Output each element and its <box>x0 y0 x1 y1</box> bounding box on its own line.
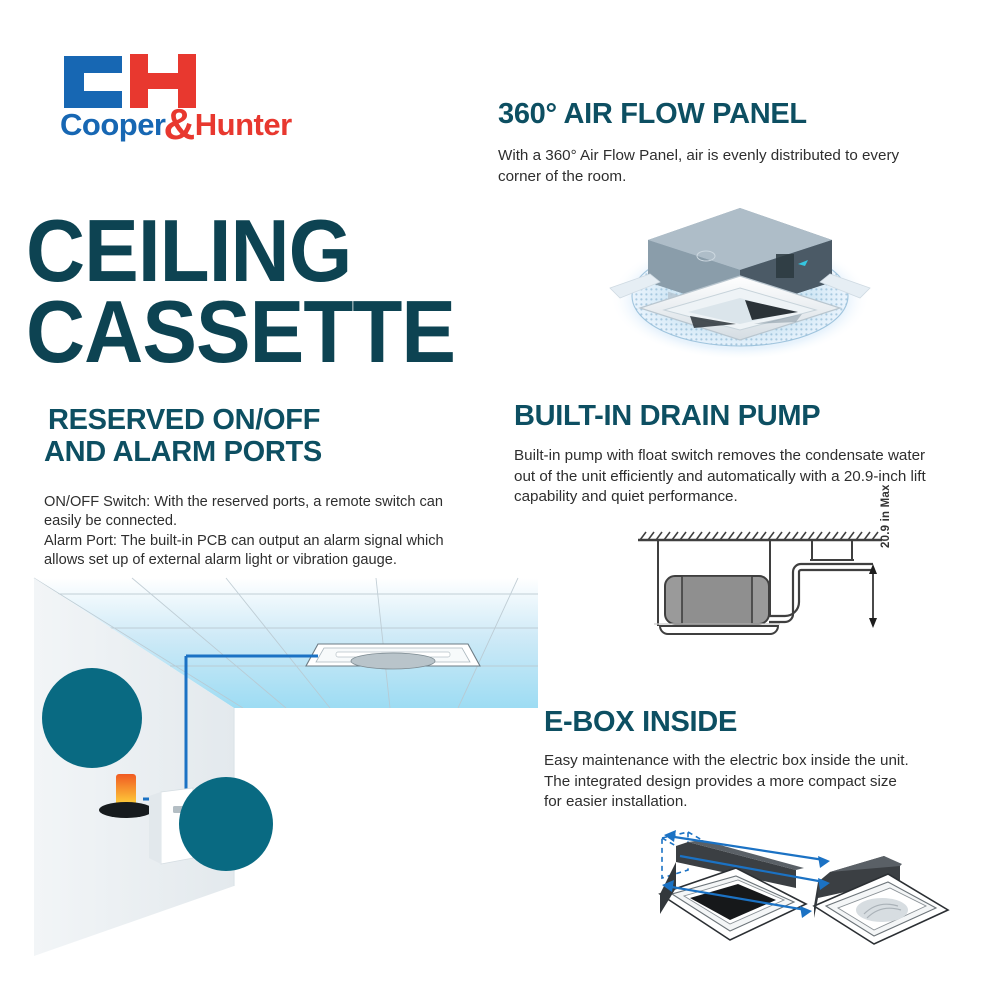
section-reserved-ports: RESERVED ON/OFF AND ALARM PORTS ON/OFF S… <box>44 404 514 571</box>
room-installation-illustration <box>18 556 538 986</box>
logo-ampersand: & <box>164 100 195 149</box>
ebox-unit-left <box>660 832 806 940</box>
callout-circle-bottom <box>179 777 273 871</box>
section-body-ebox: Easy maintenance with the electric box i… <box>544 751 974 812</box>
logo-wordmark: Cooper&Hunter <box>60 104 280 138</box>
callout-circle-top <box>42 668 142 768</box>
section-body-drain-pump: Built-in pump with float switch removes … <box>514 446 974 507</box>
page-title-line1: CEILING <box>26 211 472 292</box>
drain-dimension-label: 20.9 in Max <box>880 458 900 548</box>
cooper-hunter-logo: Cooper&Hunter <box>60 52 280 140</box>
section-heading-drain-pump: BUILT-IN DRAIN PUMP <box>514 400 974 432</box>
section-drain-pump: BUILT-IN DRAIN PUMP Built-in pump with f… <box>514 400 974 507</box>
section-heading-reserved-ports: RESERVED ON/OFF AND ALARM PORTS <box>44 404 514 469</box>
drain-pump-diagram <box>620 518 910 648</box>
ebox-comparison-illustration <box>618 818 988 963</box>
page-title: CEILING CASSETTE <box>26 211 472 373</box>
infographic-page: Cooper&Hunter CEILING CASSETTE 360° AIR … <box>0 0 1000 1000</box>
section-ebox-inside: E-BOX INSIDE Easy maintenance with the e… <box>544 706 974 812</box>
logo-hunter-text: Hunter <box>195 107 292 142</box>
section-air-flow-panel: 360° AIR FLOW PANEL With a 360° Air Flow… <box>498 98 968 187</box>
section-heading-air-flow: 360° AIR FLOW PANEL <box>498 98 968 130</box>
ceiling-cassette-unit <box>306 644 480 669</box>
air-flow-cassette-illustration <box>540 178 940 368</box>
section-heading-ebox: E-BOX INSIDE <box>544 706 974 738</box>
ebox-unit-right <box>814 856 948 944</box>
section-heading-reserved-ports-line2: AND ALARM PORTS <box>44 436 322 468</box>
logo-cooper-text: Cooper <box>60 107 166 142</box>
page-title-line2: CASSETTE <box>26 292 472 373</box>
section-heading-reserved-ports-line1: RESERVED ON/OFF <box>48 404 320 436</box>
